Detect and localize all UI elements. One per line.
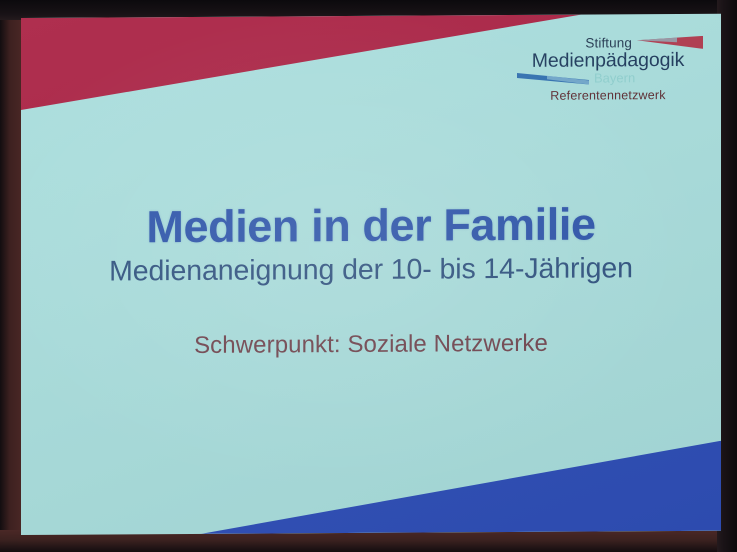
screen-frame-left <box>0 0 22 552</box>
slide-subtitle: Medienaneignung der 10- bis 14-Jährigen <box>21 252 721 288</box>
logo-line-bayern: Bayern <box>594 71 635 84</box>
logo-bottom-row: Bayern <box>513 70 703 86</box>
slide-headline-block: Medien in der Familie Medienaneignung de… <box>21 200 721 360</box>
slide-title: Medien in der Familie <box>21 200 721 252</box>
projected-slide-photo: Stiftung Medienpädagogik Bayern Referent… <box>0 0 737 552</box>
logo-line-stiftung: Stiftung <box>585 36 632 50</box>
red-swoosh-icon <box>637 36 703 49</box>
presentation-slide: Stiftung Medienpädagogik Bayern Referent… <box>21 14 721 535</box>
logo-line-medienpaedagogik: Medienpädagogik <box>513 50 703 72</box>
blue-swoosh-icon <box>517 72 589 84</box>
organization-logo: Stiftung Medienpädagogik Bayern Referent… <box>513 30 703 103</box>
top-left-wedge-decoration <box>21 15 581 110</box>
logo-line-referentennetzwerk: Referentennetzwerk <box>513 89 703 103</box>
logo-top-row: Stiftung <box>513 30 703 50</box>
bottom-right-wedge-decoration <box>201 441 721 534</box>
slide-focus-line: Schwerpunkt: Soziale Netzwerke <box>21 328 721 360</box>
